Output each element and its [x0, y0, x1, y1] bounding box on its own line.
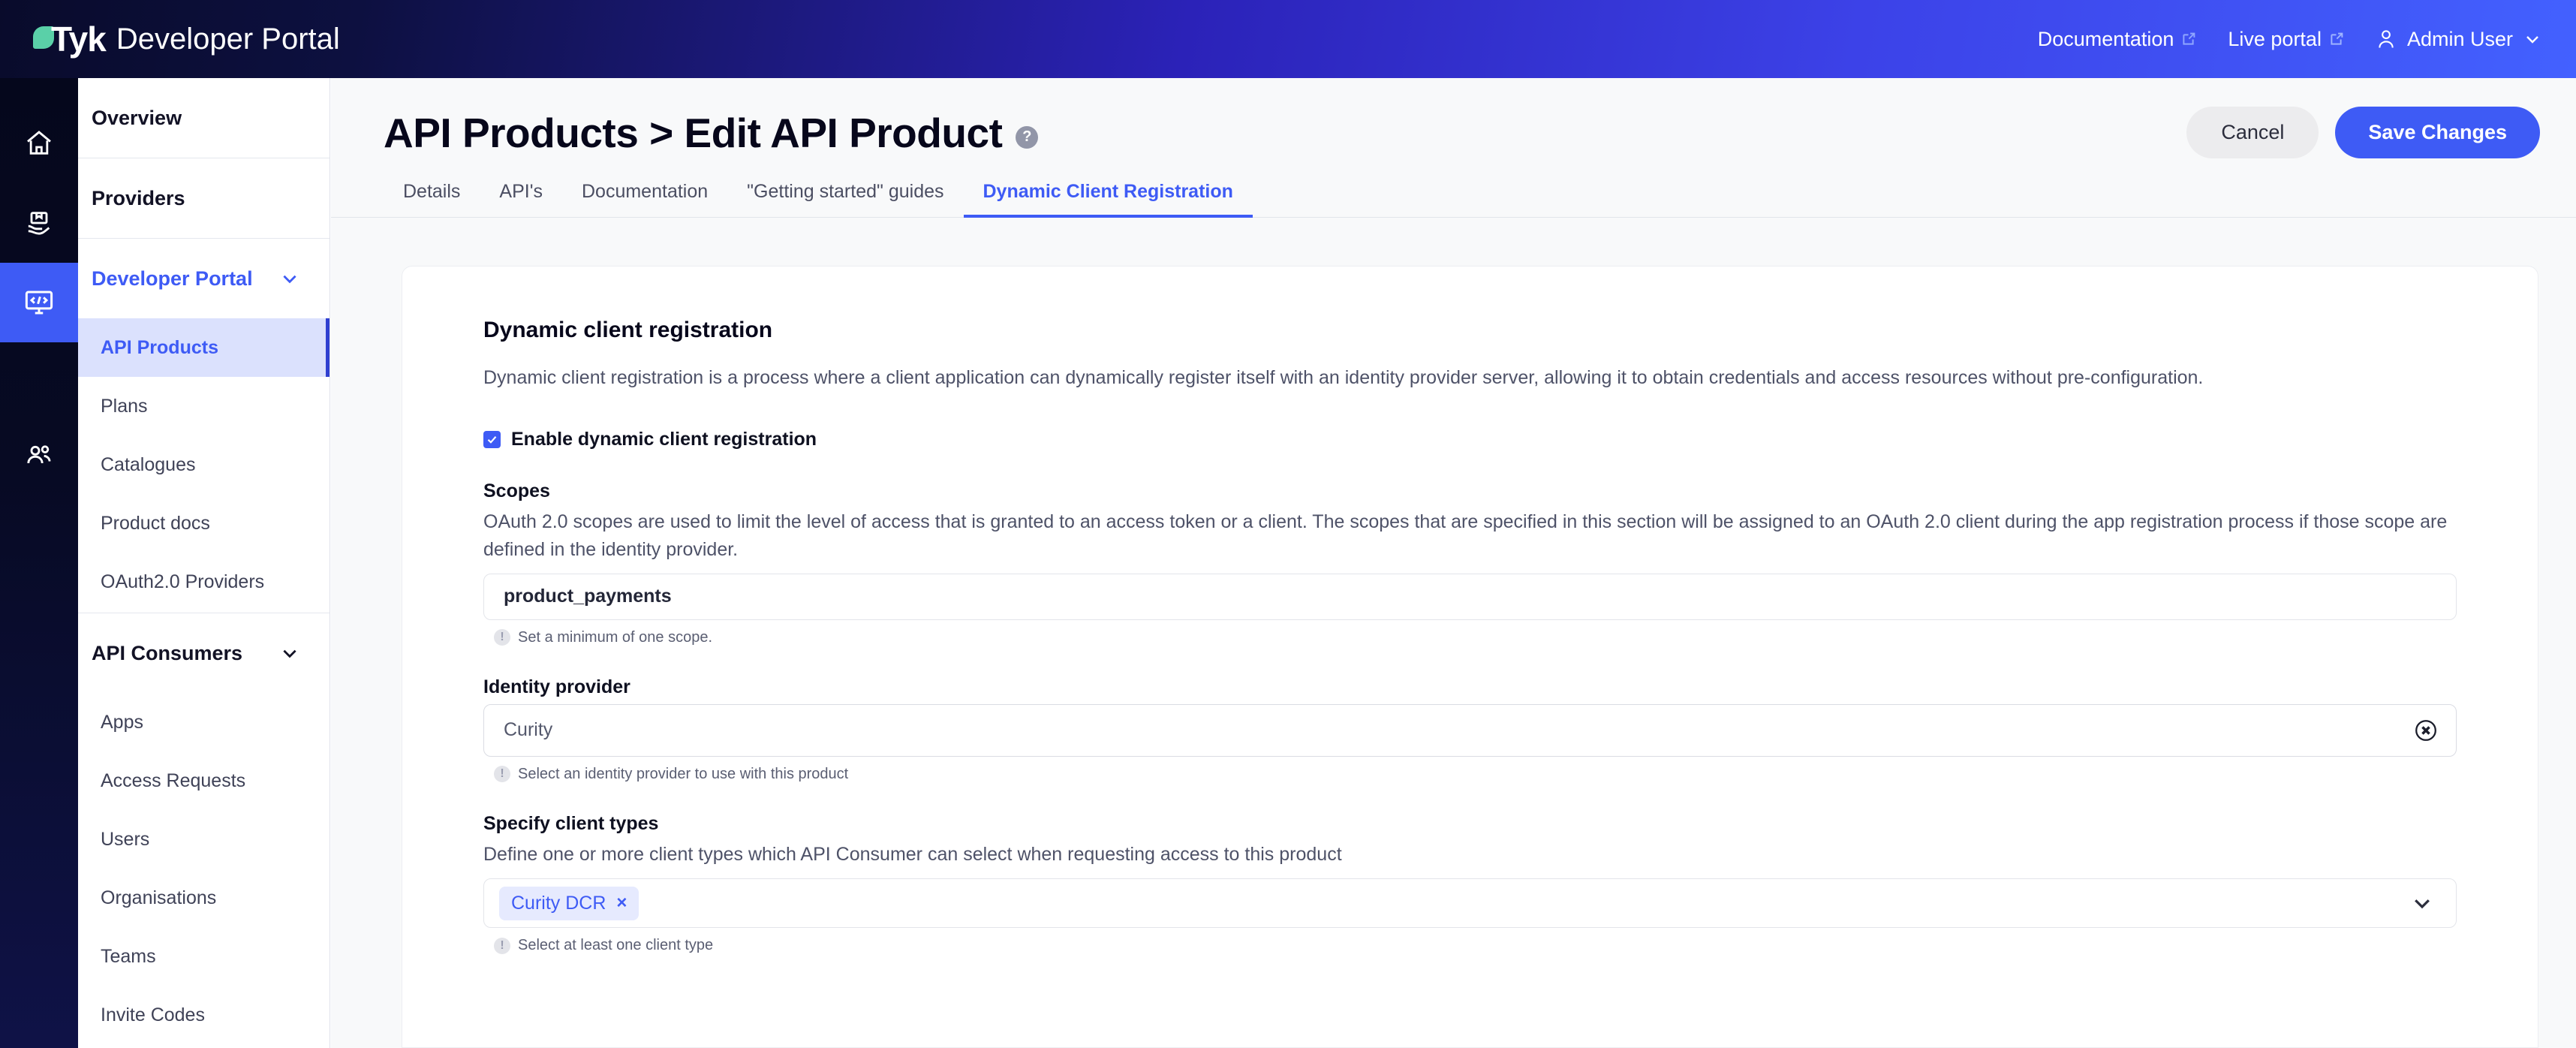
- api-consumers-icon: [24, 441, 54, 471]
- tab-bar: Details API's Documentation "Getting sta…: [331, 181, 2576, 218]
- identity-provider-label: Identity provider: [483, 676, 2457, 698]
- sidebar-item-label: Access Requests: [101, 770, 245, 792]
- sidebar-item-invite-codes[interactable]: Invite Codes: [78, 986, 330, 1044]
- sidebar-group-overview[interactable]: Overview: [78, 78, 330, 158]
- sidebar-item-users[interactable]: Users: [78, 810, 330, 869]
- dcr-card: Dynamic client registration Dynamic clie…: [402, 266, 2538, 1048]
- scopes-field: Scopes OAuth 2.0 scopes are used to limi…: [483, 480, 2457, 646]
- scopes-hint: ! Set a minimum of one scope.: [483, 629, 2457, 646]
- main-content: API Products > Edit API Product ? Cancel…: [331, 78, 2576, 1048]
- tab-details[interactable]: Details: [384, 181, 480, 218]
- user-name: Admin User: [2407, 28, 2513, 51]
- brand-suffix: Developer Portal: [116, 24, 340, 54]
- sidebar-item-developer-portal: Developer Portal: [92, 267, 253, 291]
- tyk-logo: Tyk: [33, 22, 106, 56]
- sidebar-group-developer-portal[interactable]: Developer Portal: [78, 239, 330, 318]
- scopes-help-text: OAuth 2.0 scopes are used to limit the l…: [483, 508, 2457, 563]
- enable-dcr-checkbox-row[interactable]: Enable dynamic client registration: [483, 429, 2457, 450]
- scopes-input[interactable]: product_payments: [483, 574, 2457, 620]
- sidebar-item-product-docs[interactable]: Product docs: [78, 494, 330, 553]
- sidebar-section-developer-portal: Developer Portal API Products Plans Cata…: [78, 239, 330, 613]
- tab-getting-started-guides[interactable]: "Getting started" guides: [727, 181, 963, 218]
- chevron-down-icon: [2523, 30, 2541, 48]
- client-type-tag-label: Curity DCR: [511, 893, 606, 914]
- sidebar-item-access-requests[interactable]: Access Requests: [78, 751, 330, 810]
- info-icon: !: [494, 766, 510, 782]
- cancel-button[interactable]: Cancel: [2186, 107, 2319, 158]
- sidebar-item-catalogues[interactable]: Catalogues: [78, 435, 330, 494]
- documentation-link[interactable]: Documentation: [2038, 28, 2197, 51]
- top-header-bar: Tyk Developer Portal Documentation Live …: [0, 0, 2576, 78]
- client-type-tag[interactable]: Curity DCR ×: [499, 887, 639, 920]
- sidebar-nav: Overview Providers Developer Portal API …: [78, 78, 330, 1048]
- sidebar-item-label: Organisations: [101, 887, 216, 909]
- identity-provider-field: Identity provider Curity ! Select an ide…: [483, 676, 2457, 783]
- sidebar-item-label: OAuth2.0 Providers: [101, 571, 264, 593]
- sidebar-group-providers[interactable]: Providers: [78, 158, 330, 239]
- sidebar-section-api-consumers: API Consumers Apps Access Requests Users…: [78, 613, 330, 1044]
- sidebar-item-teams[interactable]: Teams: [78, 927, 330, 986]
- tab-dynamic-client-registration[interactable]: Dynamic Client Registration: [964, 181, 1253, 218]
- sidebar-item-label: Plans: [101, 396, 148, 417]
- page-header: API Products > Edit API Product ? Cancel…: [331, 78, 2576, 158]
- client-types-hint-text: Select at least one client type: [518, 937, 713, 954]
- top-header-actions: Documentation Live portal Admin User: [2038, 28, 2541, 51]
- identity-provider-hint: ! Select an identity provider to use wit…: [483, 766, 2457, 783]
- clear-circle-icon[interactable]: [2414, 718, 2438, 742]
- sidebar-item-label: Users: [101, 829, 149, 851]
- developer-portal-icon: [23, 287, 55, 318]
- rail-item-developer-portal[interactable]: [0, 263, 78, 342]
- scopes-value: product_payments: [504, 586, 672, 607]
- external-link-icon: [2328, 32, 2344, 47]
- page-title: API Products > Edit API Product: [384, 109, 1002, 157]
- checkmark-icon: [486, 434, 498, 445]
- sidebar-item-organisations[interactable]: Organisations: [78, 869, 330, 927]
- live-portal-link[interactable]: Live portal: [2228, 28, 2344, 51]
- identity-provider-value: Curity: [504, 719, 552, 741]
- icon-rail: [0, 78, 78, 1048]
- info-icon: !: [494, 629, 510, 646]
- sidebar-group-api-consumers[interactable]: API Consumers: [78, 613, 330, 693]
- help-icon[interactable]: ?: [1016, 126, 1038, 149]
- sidebar-item-apps[interactable]: Apps: [78, 693, 330, 751]
- info-icon: !: [494, 938, 510, 954]
- save-changes-button[interactable]: Save Changes: [2335, 107, 2540, 158]
- home-icon: [24, 128, 54, 158]
- client-types-field: Specify client types Define one or more …: [483, 813, 2457, 954]
- live-portal-label: Live portal: [2228, 28, 2322, 51]
- identity-provider-hint-text: Select an identity provider to use with …: [518, 766, 848, 783]
- documentation-label: Documentation: [2038, 28, 2174, 51]
- rail-item-api-consumers[interactable]: [0, 416, 78, 495]
- avatar-icon: [2376, 28, 2397, 50]
- enable-dcr-checkbox[interactable]: [483, 431, 501, 448]
- user-menu[interactable]: Admin User: [2376, 28, 2541, 51]
- chevron-down-icon: [280, 269, 299, 288]
- sidebar-item-oauth2-providers[interactable]: OAuth2.0 Providers: [78, 553, 330, 611]
- brand-logo[interactable]: Tyk Developer Portal: [33, 22, 340, 56]
- sidebar-item-label: Product docs: [101, 513, 210, 535]
- tab-apis[interactable]: API's: [480, 181, 562, 218]
- sidebar-item-overview: Overview: [92, 107, 182, 130]
- brand-mark: Tyk: [51, 22, 106, 56]
- sidebar-item-api-consumers: API Consumers: [92, 642, 242, 665]
- section-title: Dynamic client registration: [483, 318, 2457, 343]
- sidebar-item-label: API Products: [101, 337, 218, 359]
- sidebar-item-label: Invite Codes: [101, 1004, 205, 1026]
- identity-provider-select[interactable]: Curity: [483, 704, 2457, 757]
- sidebar-item-plans[interactable]: Plans: [78, 377, 330, 435]
- sidebar-item-label: Apps: [101, 712, 143, 733]
- sidebar-item-api-products[interactable]: API Products: [78, 318, 330, 377]
- rail-item-home[interactable]: [0, 104, 78, 183]
- section-description: Dynamic client registration is a process…: [483, 364, 2457, 391]
- chevron-down-icon: [280, 643, 299, 663]
- client-types-hint: ! Select at least one client type: [483, 937, 2457, 954]
- sidebar-item-providers: Providers: [92, 187, 185, 210]
- tab-documentation[interactable]: Documentation: [562, 181, 727, 218]
- api-provider-icon: [24, 208, 54, 238]
- sidebar-item-label: Teams: [101, 946, 156, 968]
- sidebar-item-label: Catalogues: [101, 454, 195, 476]
- scopes-label: Scopes: [483, 480, 2457, 502]
- rail-item-providers[interactable]: [0, 183, 78, 263]
- client-types-label: Specify client types: [483, 813, 2457, 835]
- scopes-hint-text: Set a minimum of one scope.: [518, 629, 712, 646]
- page-actions: Cancel Save Changes: [2186, 107, 2540, 158]
- client-types-multiselect[interactable]: Curity DCR ×: [483, 878, 2457, 928]
- client-types-help-text: Define one or more client types which AP…: [483, 841, 2457, 868]
- chevron-down-icon[interactable]: [2411, 892, 2433, 914]
- external-link-icon: [2180, 32, 2196, 47]
- remove-tag-icon[interactable]: ×: [616, 893, 627, 914]
- enable-dcr-label: Enable dynamic client registration: [511, 429, 817, 450]
